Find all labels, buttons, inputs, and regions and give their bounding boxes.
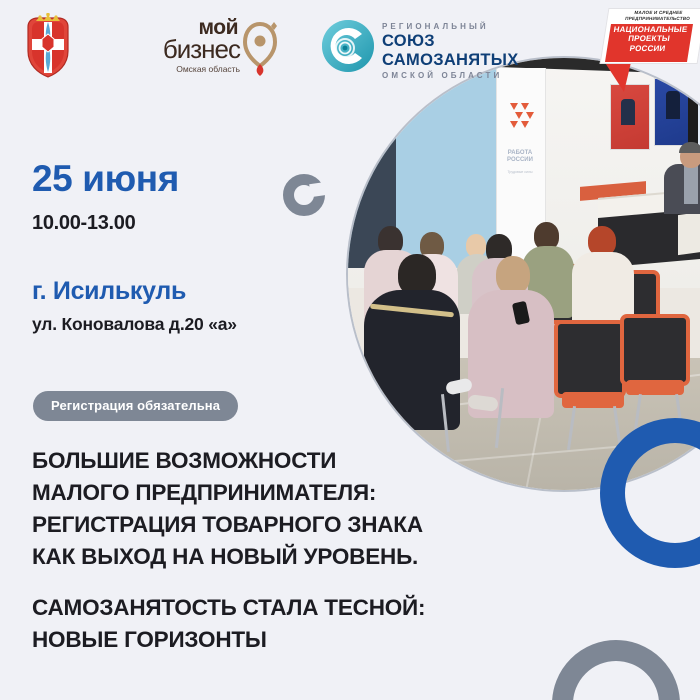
- omsk-oblast-coat-of-arms-icon: [22, 13, 74, 79]
- event-address: ул. Коновалова д.20 «а»: [32, 314, 237, 335]
- photo-chair: [554, 320, 626, 398]
- badge-main-text: НАЦИОНАЛЬНЫЕ ПРОЕКТЫ РОССИИ: [608, 25, 690, 53]
- badge-line2: ПРОЕКТЫ: [627, 34, 670, 43]
- union-line2: СОЮЗ САМОЗАНЯТЫХ: [382, 32, 552, 70]
- subheadline-line-2: НОВЫЕ ГОРИЗОНТЫ: [32, 624, 502, 656]
- event-poster: мой бизнес Омская область: [0, 0, 700, 700]
- headline-line-1: БОЛЬШИЕ ВОЗМОЖНОСТИ: [32, 445, 512, 477]
- spiral-c-mark-icon: [322, 20, 374, 72]
- rabota-rossii-mark-icon: [508, 100, 534, 128]
- headline-line-4: КАК ВЫХОД НА НОВЫЙ УРОВЕНЬ.: [32, 541, 512, 573]
- badge-top-text: МАЛОЕ И СРЕДНЕЕ ПРЕДПРИНИМАТЕЛЬСТВО: [617, 10, 699, 22]
- subheadline-line-1: САМОЗАНЯТОСТЬ СТАЛА ТЕСНОЙ:: [32, 592, 502, 624]
- headline-line-3: РЕГИСТРАЦИЯ ТОВАРНОГО ЗНАКА: [32, 509, 512, 541]
- moy-biznes-line2: бизнес: [130, 37, 240, 62]
- logo-bar: мой бизнес Омская область: [0, 0, 700, 92]
- moy-biznes-logo: мой бизнес Омская область: [130, 18, 280, 78]
- photo-presenter-hair: [679, 142, 700, 153]
- gray-c-ring-decoration: [283, 174, 325, 216]
- national-projects-badge: МАЛОЕ И СРЕДНЕЕ ПРЕДПРИНИМАТЕЛЬСТВО НАЦИ…: [596, 4, 700, 92]
- badge-line3: РОССИИ: [629, 44, 666, 53]
- event-time: 10.00-13.00: [32, 212, 135, 235]
- photo-chair-seat: [626, 380, 684, 395]
- badge-line1: НАЦИОНАЛЬНЫЕ: [613, 25, 688, 34]
- moy-biznes-subtitle: Омская область: [130, 64, 240, 74]
- event-subheadline: САМОЗАНЯТОСТЬ СТАЛА ТЕСНОЙ: НОВЫЕ ГОРИЗО…: [32, 592, 502, 656]
- photo-presenter-shirt: [684, 166, 698, 204]
- photo-attendee-head-front: [496, 256, 530, 294]
- regional-union-logo: РЕГИОНАЛЬНЫЙ СОЮЗ САМОЗАНЯТЫХ ОМСКОЙ ОБЛ…: [322, 18, 552, 76]
- event-headline: БОЛЬШИЕ ВОЗМОЖНОСТИ МАЛОГО ПРЕДПРИНИМАТЕ…: [32, 445, 512, 573]
- event-date: 25 июня: [32, 158, 179, 200]
- photo-banner-subtext: Трудовые силы: [498, 170, 542, 174]
- union-line1: РЕГИОНАЛЬНЫЙ: [382, 21, 552, 32]
- gray-ring-decoration: [552, 640, 680, 700]
- photo-chair: [620, 314, 690, 386]
- photo-poster-red: [610, 84, 650, 150]
- union-line3: ОМСКОЙ ОБЛАСТИ: [382, 70, 552, 81]
- rocket-pin-icon: [238, 20, 282, 76]
- photo-banner-text: РАБОТА РОССИИ: [498, 150, 542, 164]
- event-city: г. Исилькуль: [32, 277, 186, 306]
- headline-line-2: МАЛОГО ПРЕДПРИНИМАТЕЛЯ:: [32, 477, 512, 509]
- registration-required-badge[interactable]: Регистрация обязательна: [33, 391, 238, 421]
